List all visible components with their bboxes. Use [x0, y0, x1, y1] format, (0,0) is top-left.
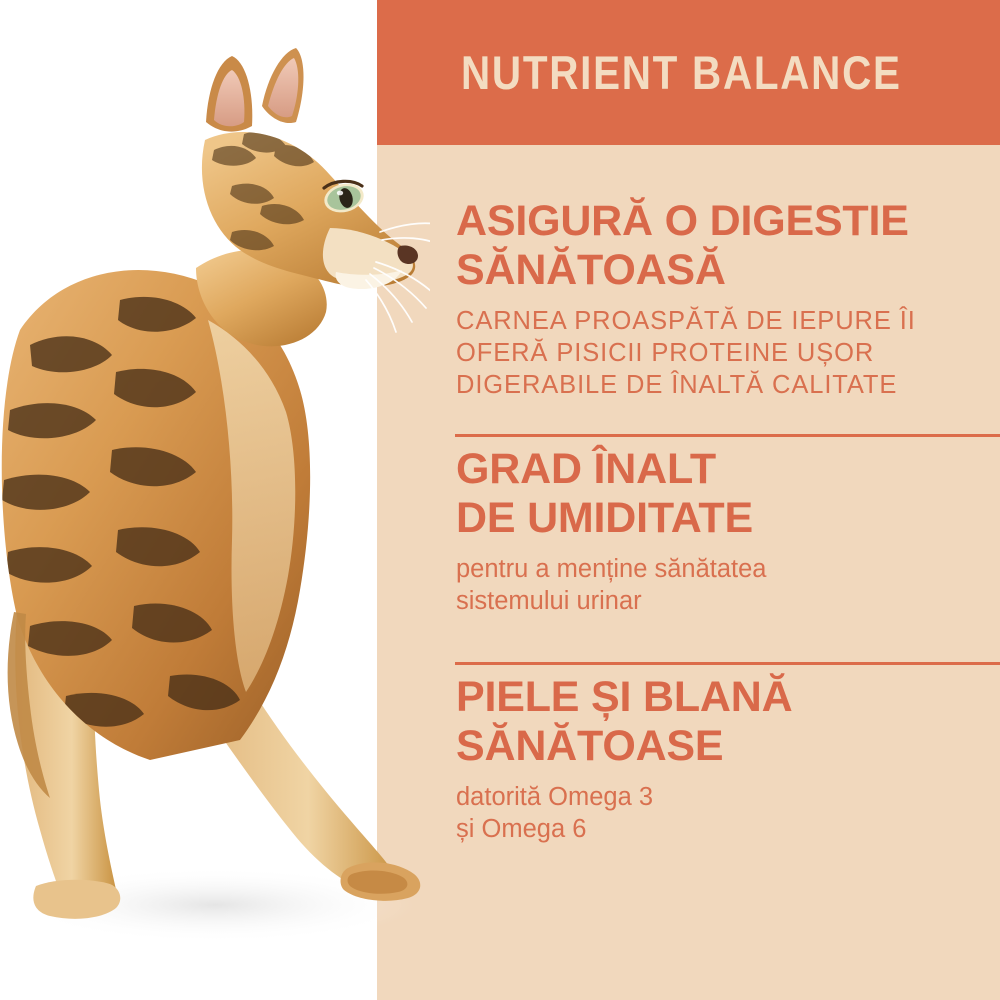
benefit-heading: PIELE ȘI BLANĂ SĂNĂTOASE	[456, 673, 1000, 771]
section-divider	[455, 662, 1000, 665]
section-divider	[455, 434, 1000, 437]
benefit-heading: ASIGURĂ O DIGESTIE SĂNĂTOASĂ	[456, 197, 1000, 295]
header-band: NUTRIENT BALANCE	[377, 0, 1000, 145]
benefits-list: ASIGURĂ O DIGESTIE SĂNĂTOASĂ CARNEA PROA…	[456, 145, 1000, 1000]
benefit-section-skin-coat: PIELE ȘI BLANĂ SĂNĂTOASE datorită Omega …	[456, 673, 1000, 845]
page-title: NUTRIENT BALANCE	[461, 49, 902, 96]
nutrient-balance-poster: NUTRIENT BALANCE ASIGURĂ O DIGESTIE SĂNĂ…	[0, 0, 1000, 1000]
cat-photo	[0, 0, 430, 1000]
benefit-heading: GRAD ÎNALT DE UMIDITATE	[456, 445, 1000, 543]
benefit-body: datorită Omega 3 și Omega 6	[456, 781, 1000, 845]
benefit-section-moisture: GRAD ÎNALT DE UMIDITATE pentru a menține…	[456, 445, 1000, 617]
benefit-body: CARNEA PROASPĂTĂ DE IEPURE ÎI OFERĂ PISI…	[456, 305, 1000, 401]
benefit-body: pentru a menține sănătatea sistemului ur…	[456, 553, 1000, 617]
benefit-section-digestion: ASIGURĂ O DIGESTIE SĂNĂTOASĂ CARNEA PROA…	[456, 197, 1000, 401]
